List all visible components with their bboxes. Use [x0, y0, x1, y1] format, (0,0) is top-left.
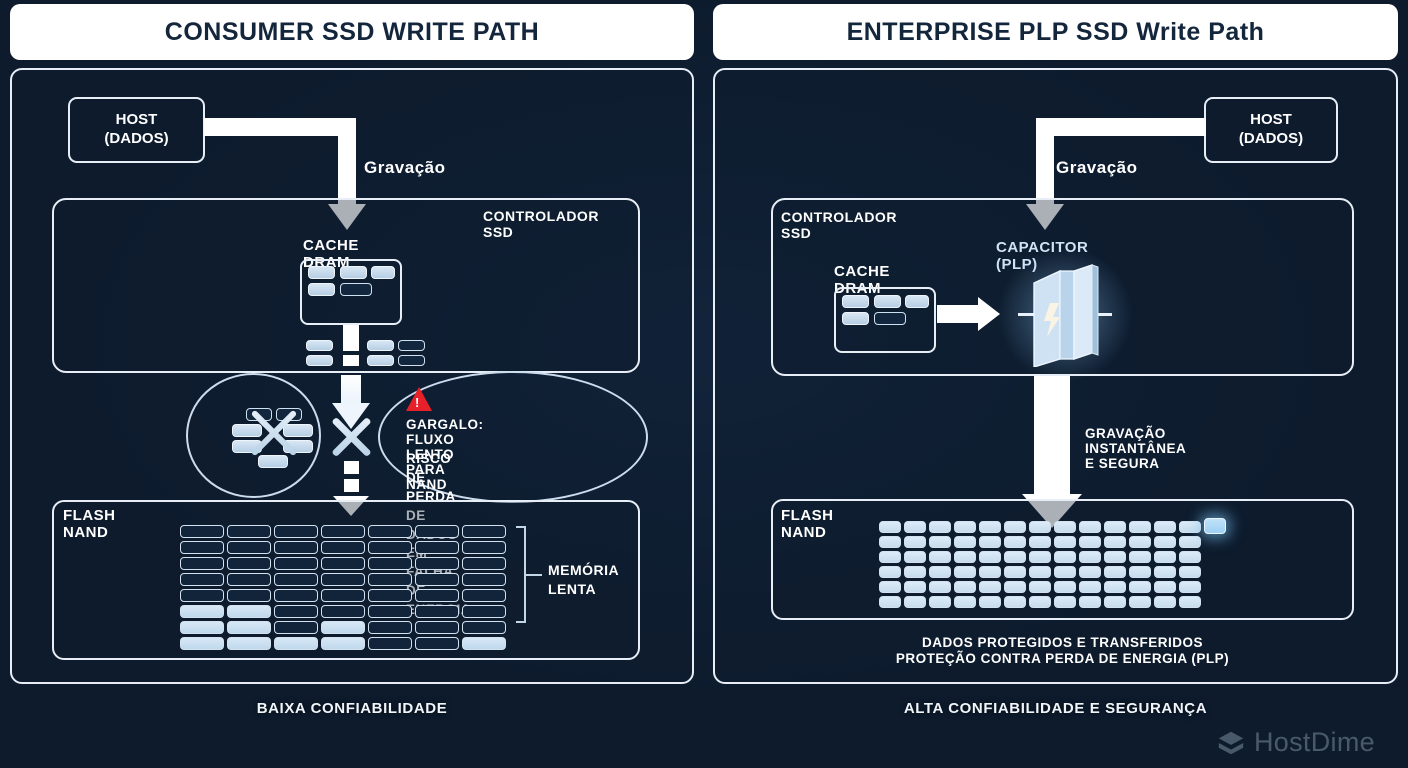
- nand-cell: [879, 566, 901, 578]
- nand-cell: [1054, 566, 1076, 578]
- nand-cell: [929, 596, 951, 608]
- right-write-label: Gravação: [1056, 158, 1138, 178]
- nand-cell: [462, 605, 506, 618]
- right-host-arrow-horizontal: [1036, 118, 1206, 136]
- nand-cell: [274, 605, 318, 618]
- nand-cell: [415, 525, 459, 538]
- nand-cell: [180, 589, 224, 602]
- nand-cell: [274, 589, 318, 602]
- nand-cell: [321, 621, 365, 634]
- nand-cell: [904, 596, 926, 608]
- nand-cell: [979, 536, 1001, 548]
- nand-cell: [1029, 551, 1051, 563]
- right-host-line1: HOST: [1250, 111, 1292, 130]
- nand-cell: [368, 525, 412, 538]
- left-host-arrow-vertical: [338, 118, 356, 206]
- nand-cell: [904, 536, 926, 548]
- nand-cell: [1129, 581, 1151, 593]
- nand-cell: [1029, 596, 1051, 608]
- nand-cell: [1179, 536, 1201, 548]
- right-cache-chip: [905, 295, 929, 308]
- nand-cell: [1129, 551, 1151, 563]
- left-cache-chip: [340, 266, 367, 279]
- nand-cell: [1079, 596, 1101, 608]
- nand-cell: [462, 541, 506, 554]
- nand-cell: [180, 557, 224, 570]
- nand-cell: [180, 525, 224, 538]
- nand-cell: [1054, 521, 1076, 533]
- nand-cell: [321, 605, 365, 618]
- nand-cell: [879, 536, 901, 548]
- nand-cell: [879, 581, 901, 593]
- right-host-line2: (DADOS): [1239, 130, 1303, 149]
- right-cache-chip: [842, 295, 869, 308]
- left-host-line1: HOST: [116, 111, 158, 130]
- left-row-chip: [306, 355, 333, 366]
- nand-cell: [929, 521, 951, 533]
- nand-cell: [462, 557, 506, 570]
- nand-cell: [368, 589, 412, 602]
- nand-cell: [1154, 551, 1176, 563]
- nand-cell: [1079, 536, 1101, 548]
- nand-cell: [321, 573, 365, 586]
- hostdime-logo: HostDime: [1216, 727, 1375, 758]
- memory-bracket: [516, 526, 526, 623]
- nand-cell: [979, 596, 1001, 608]
- left-cache-chip-empty: [340, 283, 372, 296]
- right-host-box: HOST (DADOS): [1204, 97, 1338, 163]
- nand-cell: [1104, 551, 1126, 563]
- nand-cell: [979, 581, 1001, 593]
- nand-cell: [1129, 596, 1151, 608]
- nand-cell: [904, 566, 926, 578]
- nand-cell: [1104, 596, 1126, 608]
- nand-cell: [1129, 536, 1151, 548]
- nand-cell: [1154, 566, 1176, 578]
- right-panel-title: ENTERPRISE PLP SSD Write Path: [847, 20, 1265, 45]
- nand-cell: [1079, 521, 1101, 533]
- nand-cell: [1054, 551, 1076, 563]
- nand-cell: [462, 621, 506, 634]
- left-panel-footer: BAIXA CONFIABILIDADE: [10, 700, 694, 717]
- nand-cell: [462, 589, 506, 602]
- nand-cell: [227, 573, 271, 586]
- nand-cell: [979, 551, 1001, 563]
- nand-cell: [180, 621, 224, 634]
- nand-cell: [1154, 581, 1176, 593]
- nand-cell: [462, 525, 506, 538]
- nand-cell: [1154, 596, 1176, 608]
- nand-cell: [368, 557, 412, 570]
- nand-cell: [879, 551, 901, 563]
- left-panel-title: CONSUMER SSD WRITE PATH: [165, 20, 539, 45]
- nand-cell: [227, 541, 271, 554]
- left-bottleneck-arrow-shaft: [341, 375, 361, 405]
- nand-cell: [1004, 536, 1026, 548]
- nand-cell: [1004, 521, 1026, 533]
- nand-cell: [1104, 521, 1126, 533]
- nand-cell: [954, 566, 976, 578]
- left-blocked-x-icon: [328, 414, 374, 460]
- hostdime-logo-icon: [1216, 728, 1246, 758]
- nand-cell: [274, 573, 318, 586]
- nand-cell: [415, 605, 459, 618]
- nand-cell: [929, 581, 951, 593]
- nand-cell: [1054, 581, 1076, 593]
- nand-cell: [368, 573, 412, 586]
- nand-cell: [180, 605, 224, 618]
- nand-cell: [1004, 551, 1026, 563]
- nand-cell: [227, 557, 271, 570]
- left-row-chip: [367, 355, 394, 366]
- right-cache-chip-empty: [874, 312, 906, 325]
- warning-exclamation-glyph: !: [415, 396, 419, 409]
- nand-cell: [929, 536, 951, 548]
- nand-cell: [415, 573, 459, 586]
- nand-cell: [979, 521, 1001, 533]
- nand-cell: [227, 621, 271, 634]
- left-cache-chip: [308, 266, 335, 279]
- nand-cell: [879, 521, 901, 533]
- nand-cell: [1079, 551, 1101, 563]
- nand-cell: [180, 573, 224, 586]
- nand-cell: [1104, 536, 1126, 548]
- nand-cell: [415, 589, 459, 602]
- nand-cell: [1079, 581, 1101, 593]
- nand-cell: [274, 557, 318, 570]
- right-note-line2: PROTEÇÃO CONTRA PERDA DE ENERGIA (PLP): [771, 651, 1354, 666]
- nand-cell: [1079, 566, 1101, 578]
- nand-cell: [954, 551, 976, 563]
- nand-cell: [415, 541, 459, 554]
- nand-cell: [321, 589, 365, 602]
- nand-cell: [415, 621, 459, 634]
- left-trickle-dot: [344, 461, 359, 474]
- right-controller-label: CONTROLADOR SSD: [781, 209, 897, 241]
- memory-bracket-tick: [526, 574, 542, 576]
- nand-cell: [462, 637, 506, 650]
- left-cache-cross-icon: [248, 406, 300, 458]
- hostdime-logo-text: HostDime: [1254, 727, 1375, 758]
- nand-cell: [1179, 566, 1201, 578]
- left-memory-label: MEMÓRIA LENTA: [548, 561, 619, 599]
- right-panel-footer: ALTA CONFIABILIDADE E SEGURANÇA: [713, 700, 1398, 717]
- nand-cell-incoming: [1204, 518, 1226, 534]
- right-panel-title-bar: ENTERPRISE PLP SSD Write Path: [713, 4, 1398, 60]
- nand-cell: [1004, 566, 1026, 578]
- left-host-line2: (DADOS): [104, 130, 168, 149]
- right-cache-to-capacitor-shaft: [937, 305, 979, 323]
- nand-cell: [1029, 581, 1051, 593]
- left-write-label: Gravação: [364, 158, 446, 178]
- left-row-stub: [343, 340, 359, 351]
- nand-cell: [1004, 581, 1026, 593]
- nand-cell: [462, 573, 506, 586]
- nand-cell: [274, 637, 318, 650]
- nand-cell: [1104, 581, 1126, 593]
- nand-cell: [879, 596, 901, 608]
- left-row-chip-empty: [398, 355, 425, 366]
- right-flow-label: GRAVAÇÃO INSTANTÂNEA E SEGURA: [1085, 426, 1186, 471]
- nand-cell: [1179, 521, 1201, 533]
- left-row-chip: [306, 340, 333, 351]
- nand-cell: [368, 605, 412, 618]
- left-row-stub: [343, 355, 359, 366]
- nand-cell: [1179, 581, 1201, 593]
- right-note-line1: DADOS PROTEGIDOS E TRANSFERIDOS: [771, 635, 1354, 650]
- right-cache-chip: [842, 312, 869, 325]
- left-nand-grid: [180, 525, 510, 653]
- nand-cell: [929, 551, 951, 563]
- left-controller-label: CONTROLADOR SSD: [483, 208, 599, 240]
- left-row-chip-empty: [398, 340, 425, 351]
- nand-cell: [1104, 566, 1126, 578]
- nand-cell: [1054, 536, 1076, 548]
- right-nand-label: FLASH NAND: [781, 507, 834, 541]
- nand-cell: [904, 581, 926, 593]
- nand-cell: [954, 521, 976, 533]
- nand-cell: [1029, 536, 1051, 548]
- left-row-chip: [367, 340, 394, 351]
- right-nand-grid: [879, 521, 1204, 613]
- nand-cell: [274, 525, 318, 538]
- nand-cell: [415, 637, 459, 650]
- nand-cell: [979, 566, 1001, 578]
- nand-cell: [1129, 521, 1151, 533]
- nand-cell: [954, 581, 976, 593]
- right-host-arrow-vertical: [1036, 118, 1054, 206]
- nand-cell: [227, 525, 271, 538]
- nand-cell: [954, 536, 976, 548]
- nand-cell: [904, 551, 926, 563]
- nand-cell: [1179, 551, 1201, 563]
- nand-cell: [1179, 596, 1201, 608]
- nand-cell: [321, 541, 365, 554]
- nand-cell: [1054, 596, 1076, 608]
- left-trickle-dot: [344, 479, 359, 492]
- nand-cell: [274, 621, 318, 634]
- left-cache-chip: [371, 266, 395, 279]
- left-host-arrow-horizontal: [204, 118, 356, 136]
- capacitor-icon: [1026, 263, 1106, 367]
- nand-cell: [321, 525, 365, 538]
- nand-cell: [904, 521, 926, 533]
- nand-cell: [274, 541, 318, 554]
- nand-cell: [321, 637, 365, 650]
- nand-cell: [368, 637, 412, 650]
- right-flow-arrow-shaft: [1034, 376, 1070, 498]
- nand-cell: [368, 621, 412, 634]
- nand-cell: [180, 541, 224, 554]
- left-panel-title-bar: CONSUMER SSD WRITE PATH: [10, 4, 694, 60]
- right-cache-chip: [874, 295, 901, 308]
- nand-cell: [1029, 521, 1051, 533]
- diagram-canvas: CONSUMER SSD WRITE PATH HOST (DADOS) Gra…: [0, 0, 1408, 768]
- nand-cell: [929, 566, 951, 578]
- nand-cell: [321, 557, 365, 570]
- left-host-box: HOST (DADOS): [68, 97, 205, 163]
- left-cache-chip: [308, 283, 335, 296]
- left-nand-label: FLASH NAND: [63, 507, 116, 541]
- nand-cell: [227, 637, 271, 650]
- nand-cell: [1154, 521, 1176, 533]
- nand-cell: [954, 596, 976, 608]
- nand-cell: [368, 541, 412, 554]
- nand-cell: [180, 637, 224, 650]
- nand-cell: [1154, 536, 1176, 548]
- nand-cell: [227, 605, 271, 618]
- nand-cell: [1129, 566, 1151, 578]
- nand-cell: [227, 589, 271, 602]
- right-cache-to-capacitor-head-icon: [978, 297, 1000, 331]
- nand-cell: [1004, 596, 1026, 608]
- nand-cell: [1029, 566, 1051, 578]
- nand-cell: [415, 557, 459, 570]
